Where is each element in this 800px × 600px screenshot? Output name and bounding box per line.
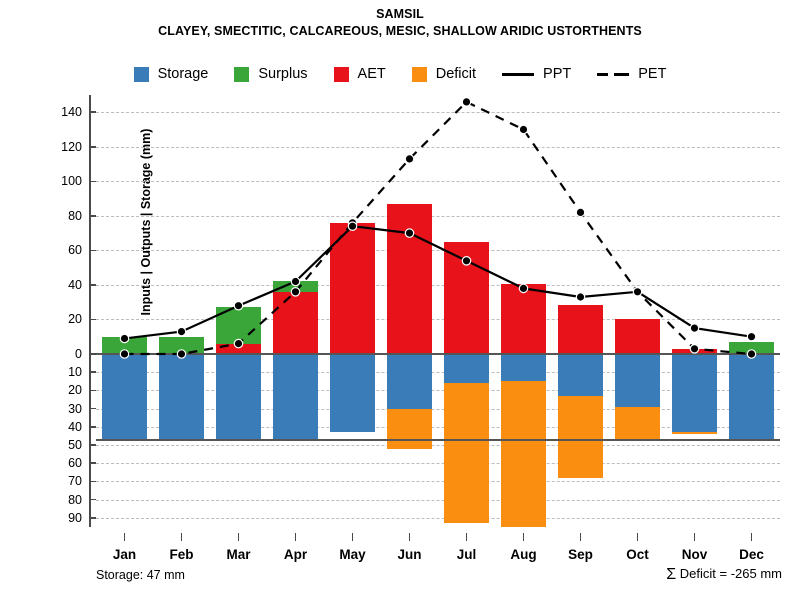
marker-ppt-sep[interactable] bbox=[576, 293, 584, 301]
x-tick-mark bbox=[181, 533, 183, 541]
marker-pet-nov[interactable] bbox=[690, 345, 698, 353]
line-pet[interactable] bbox=[125, 102, 752, 354]
y-tick-label: 20 bbox=[42, 383, 82, 397]
deficit-footnote-text: Deficit = -265 mm bbox=[680, 566, 782, 581]
x-tick-mark bbox=[523, 533, 525, 541]
y-tick-label: 30 bbox=[42, 402, 82, 416]
y-tick-label: 100 bbox=[42, 174, 82, 188]
legend-item-surplus[interactable]: Surplus bbox=[234, 66, 307, 82]
marker-ppt-jan[interactable] bbox=[120, 334, 128, 342]
marker-pet-jul[interactable] bbox=[462, 98, 470, 106]
sigma-symbol: Σ bbox=[666, 566, 676, 583]
marker-ppt-apr[interactable] bbox=[291, 277, 299, 285]
x-tick-label-oct: Oct bbox=[626, 547, 649, 562]
y-tick-label: 90 bbox=[42, 511, 82, 525]
storage-footnote: Storage: 47 mm bbox=[96, 568, 185, 582]
legend-item-aet[interactable]: AET bbox=[334, 66, 386, 82]
legend-item-pet[interactable]: PET bbox=[597, 66, 666, 82]
x-tick-mark bbox=[466, 533, 468, 541]
chart-title-line-1: SAMSIL bbox=[0, 6, 800, 23]
x-tick-mark bbox=[352, 533, 354, 541]
legend-label-pet: PET bbox=[638, 66, 666, 82]
marker-ppt-dec[interactable] bbox=[747, 333, 755, 341]
legend-label-deficit: Deficit bbox=[436, 66, 476, 82]
y-axis-spine bbox=[89, 95, 91, 527]
marker-ppt-aug[interactable] bbox=[519, 284, 527, 292]
y-tick-label-zero: 0 bbox=[42, 347, 82, 361]
legend-item-ppt[interactable]: PPT bbox=[502, 66, 571, 82]
y-tick-label: 120 bbox=[42, 140, 82, 154]
y-tick-label: 40 bbox=[42, 278, 82, 292]
chart-title-line-2: CLAYEY, SMECTITIC, CALCAREOUS, MESIC, SH… bbox=[0, 23, 800, 40]
legend-label-ppt: PPT bbox=[543, 66, 571, 82]
x-tick-mark bbox=[409, 533, 411, 541]
marker-ppt-jul[interactable] bbox=[462, 257, 470, 265]
marker-pet-apr[interactable] bbox=[291, 288, 299, 296]
marker-pet-jun[interactable] bbox=[405, 155, 413, 163]
legend-swatch-aet-icon bbox=[334, 67, 349, 82]
y-tick-label: 60 bbox=[42, 456, 82, 470]
marker-ppt-may[interactable] bbox=[348, 222, 356, 230]
y-tick-label: 140 bbox=[42, 105, 82, 119]
x-tick-label-nov: Nov bbox=[682, 547, 708, 562]
marker-ppt-feb[interactable] bbox=[177, 327, 185, 335]
marker-ppt-nov[interactable] bbox=[690, 324, 698, 332]
deficit-footnote: Σ Deficit = -265 mm bbox=[666, 566, 782, 584]
x-tick-mark bbox=[751, 533, 753, 541]
water-balance-chart: SAMSIL CLAYEY, SMECTITIC, CALCAREOUS, ME… bbox=[0, 0, 800, 600]
legend-swatch-storage-icon bbox=[134, 67, 149, 82]
legend-swatch-surplus-icon bbox=[234, 67, 249, 82]
x-tick-label-jun: Jun bbox=[397, 547, 421, 562]
y-tick-label: 10 bbox=[42, 365, 82, 379]
marker-ppt-mar[interactable] bbox=[234, 302, 242, 310]
x-tick-label-jan: Jan bbox=[113, 547, 136, 562]
x-tick-mark bbox=[694, 533, 696, 541]
legend-label-aet: AET bbox=[358, 66, 386, 82]
legend-label-surplus: Surplus bbox=[258, 66, 307, 82]
x-tick-mark bbox=[637, 533, 639, 541]
line-series-layer bbox=[96, 95, 780, 531]
x-tick-label-apr: Apr bbox=[284, 547, 307, 562]
legend-item-storage[interactable]: Storage bbox=[134, 66, 209, 82]
legend-item-deficit[interactable]: Deficit bbox=[412, 66, 476, 82]
legend-label-storage: Storage bbox=[158, 66, 209, 82]
y-tick-label: 80 bbox=[42, 209, 82, 223]
marker-pet-jan[interactable] bbox=[120, 350, 128, 358]
y-tick-label: 80 bbox=[42, 493, 82, 507]
chart-legend: StorageSurplusAETDeficitPPTPET bbox=[0, 66, 800, 82]
x-tick-label-aug: Aug bbox=[510, 547, 536, 562]
y-tick-label: 60 bbox=[42, 243, 82, 257]
y-tick-label: 50 bbox=[42, 438, 82, 452]
x-tick-label-mar: Mar bbox=[226, 547, 250, 562]
marker-pet-mar[interactable] bbox=[234, 339, 242, 347]
y-tick-label: 20 bbox=[42, 312, 82, 326]
marker-ppt-oct[interactable] bbox=[633, 288, 641, 296]
marker-pet-aug[interactable] bbox=[519, 125, 527, 133]
y-tick-label: 70 bbox=[42, 474, 82, 488]
x-tick-label-sep: Sep bbox=[568, 547, 593, 562]
x-tick-mark bbox=[580, 533, 582, 541]
legend-swatch-deficit-icon bbox=[412, 67, 427, 82]
x-tick-label-may: May bbox=[339, 547, 365, 562]
x-tick-label-jul: Jul bbox=[457, 547, 477, 562]
marker-pet-sep[interactable] bbox=[576, 208, 584, 216]
x-tick-mark bbox=[295, 533, 297, 541]
marker-ppt-jun[interactable] bbox=[405, 229, 413, 237]
marker-pet-feb[interactable] bbox=[177, 350, 185, 358]
x-tick-mark bbox=[124, 533, 126, 541]
plot-area: Inputs | Outputs | Storage (mm) 20406080… bbox=[96, 95, 780, 531]
x-tick-label-feb: Feb bbox=[169, 547, 193, 562]
chart-title: SAMSIL CLAYEY, SMECTITIC, CALCAREOUS, ME… bbox=[0, 6, 800, 40]
x-tick-label-dec: Dec bbox=[739, 547, 764, 562]
marker-pet-dec[interactable] bbox=[747, 350, 755, 358]
y-tick-label: 40 bbox=[42, 420, 82, 434]
line-ppt[interactable] bbox=[125, 226, 752, 338]
x-tick-mark bbox=[238, 533, 240, 541]
